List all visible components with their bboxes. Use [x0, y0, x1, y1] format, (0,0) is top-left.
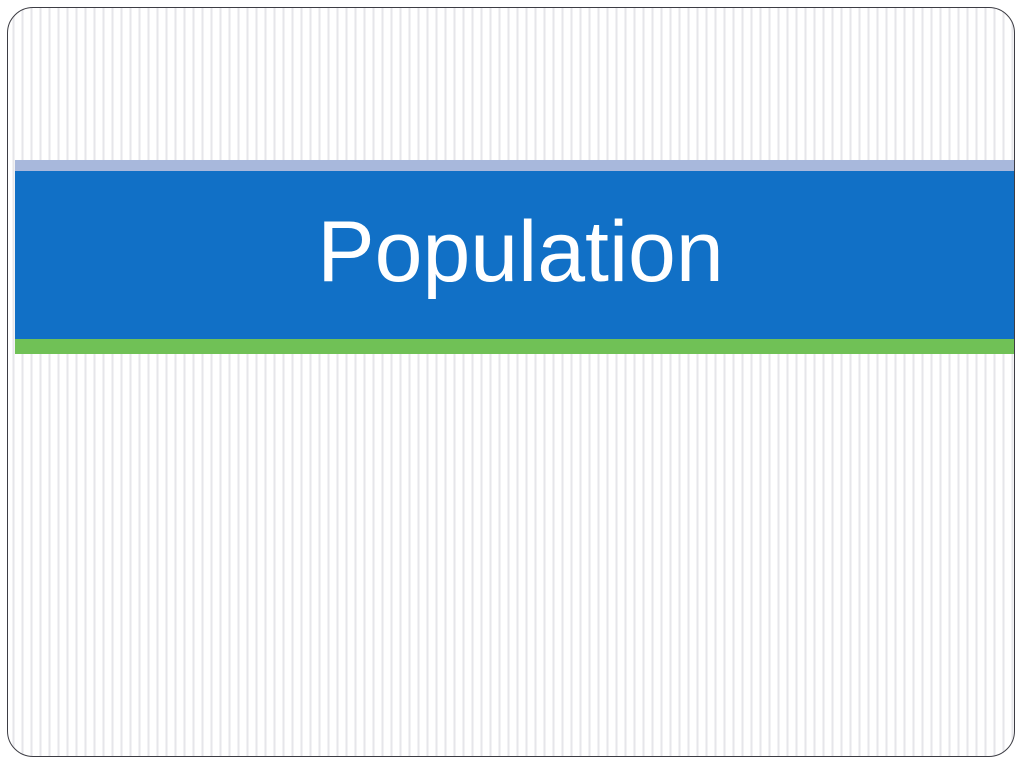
- slide-title: Population: [15, 171, 1015, 339]
- slide-frame: Population: [7, 7, 1015, 757]
- banner-accent-rule-bottom: [15, 339, 1015, 354]
- presentation-slide: Population: [0, 0, 1024, 768]
- banner-accent-rule-top: [15, 160, 1015, 171]
- slide-content-area: [15, 354, 1015, 757]
- title-banner: Population: [15, 160, 1015, 354]
